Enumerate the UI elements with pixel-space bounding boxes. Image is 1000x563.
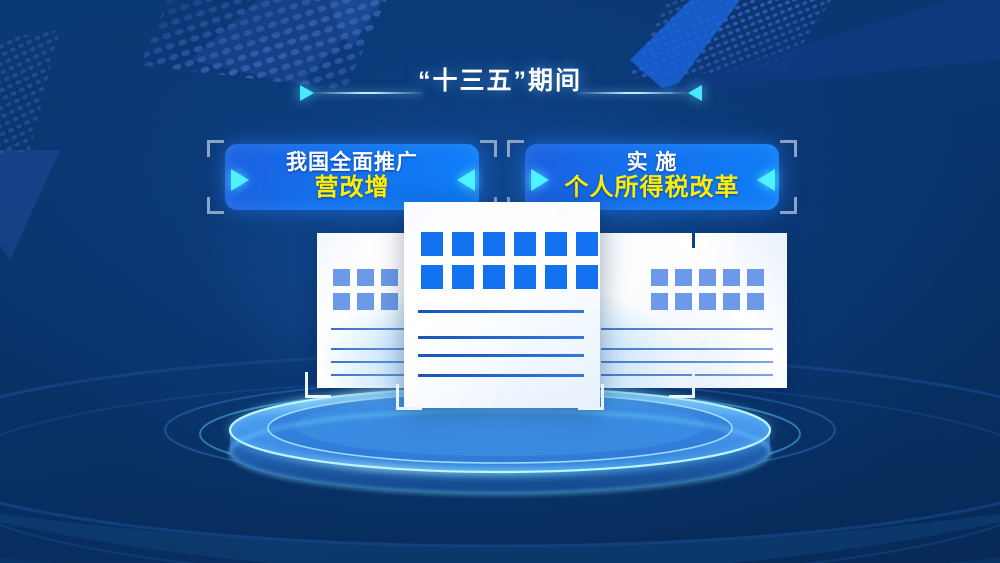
block-cell xyxy=(514,232,536,256)
block-cell xyxy=(357,293,374,310)
corner-bracket-top-right-icon xyxy=(669,222,695,248)
document-card-right xyxy=(587,233,787,388)
block-cell xyxy=(514,265,536,289)
block-cell xyxy=(699,293,716,310)
block-cell xyxy=(483,232,505,256)
block-cell xyxy=(747,269,764,286)
triangle-left-icon xyxy=(457,169,475,191)
triangle-left-icon xyxy=(757,169,775,191)
corner-bracket-bottom-left-icon xyxy=(396,384,422,410)
block-cell xyxy=(651,269,668,286)
block-cell xyxy=(651,293,668,310)
block-cell xyxy=(675,293,692,310)
triangle-right-icon xyxy=(231,169,249,191)
text-line xyxy=(418,336,584,339)
text-line xyxy=(418,374,584,377)
block-cell xyxy=(576,232,598,256)
block-cell xyxy=(747,293,764,310)
block-cell xyxy=(381,269,398,286)
block-cell xyxy=(333,293,350,310)
block-cell xyxy=(452,265,474,289)
block-row xyxy=(421,232,598,256)
block-row xyxy=(651,269,764,286)
corner-bracket-bottom-right-icon xyxy=(669,372,695,398)
block-cell xyxy=(421,232,443,256)
block-cell xyxy=(723,269,740,286)
corner-bracket-bottom-left-icon xyxy=(305,372,331,398)
block-cell xyxy=(576,265,598,289)
text-line xyxy=(601,348,773,350)
block-cell xyxy=(452,232,474,256)
corner-bracket-top-left-icon xyxy=(305,222,331,248)
block-cell xyxy=(545,265,567,289)
block-row xyxy=(421,265,598,289)
triangle-right-icon xyxy=(531,169,549,191)
block-cell xyxy=(483,265,505,289)
block-cell xyxy=(723,293,740,310)
block-cell xyxy=(357,269,374,286)
block-cell xyxy=(545,232,567,256)
text-line xyxy=(601,328,773,330)
block-cell xyxy=(675,269,692,286)
poster-canvas: “十三五”期间 我国全面推广 营改增 实 施 个人所得税改革 xyxy=(0,0,1000,563)
block-cell xyxy=(421,265,443,289)
block-cell xyxy=(699,269,716,286)
block-cell xyxy=(333,269,350,286)
block-cell xyxy=(381,293,398,310)
text-line xyxy=(418,354,584,357)
corner-bracket-bottom-right-icon xyxy=(578,384,604,410)
text-line xyxy=(601,361,773,363)
block-row xyxy=(651,293,764,310)
document-group xyxy=(0,0,1000,563)
text-line xyxy=(418,310,584,313)
document-card-center xyxy=(404,202,600,408)
card-sheen-right xyxy=(587,233,787,388)
